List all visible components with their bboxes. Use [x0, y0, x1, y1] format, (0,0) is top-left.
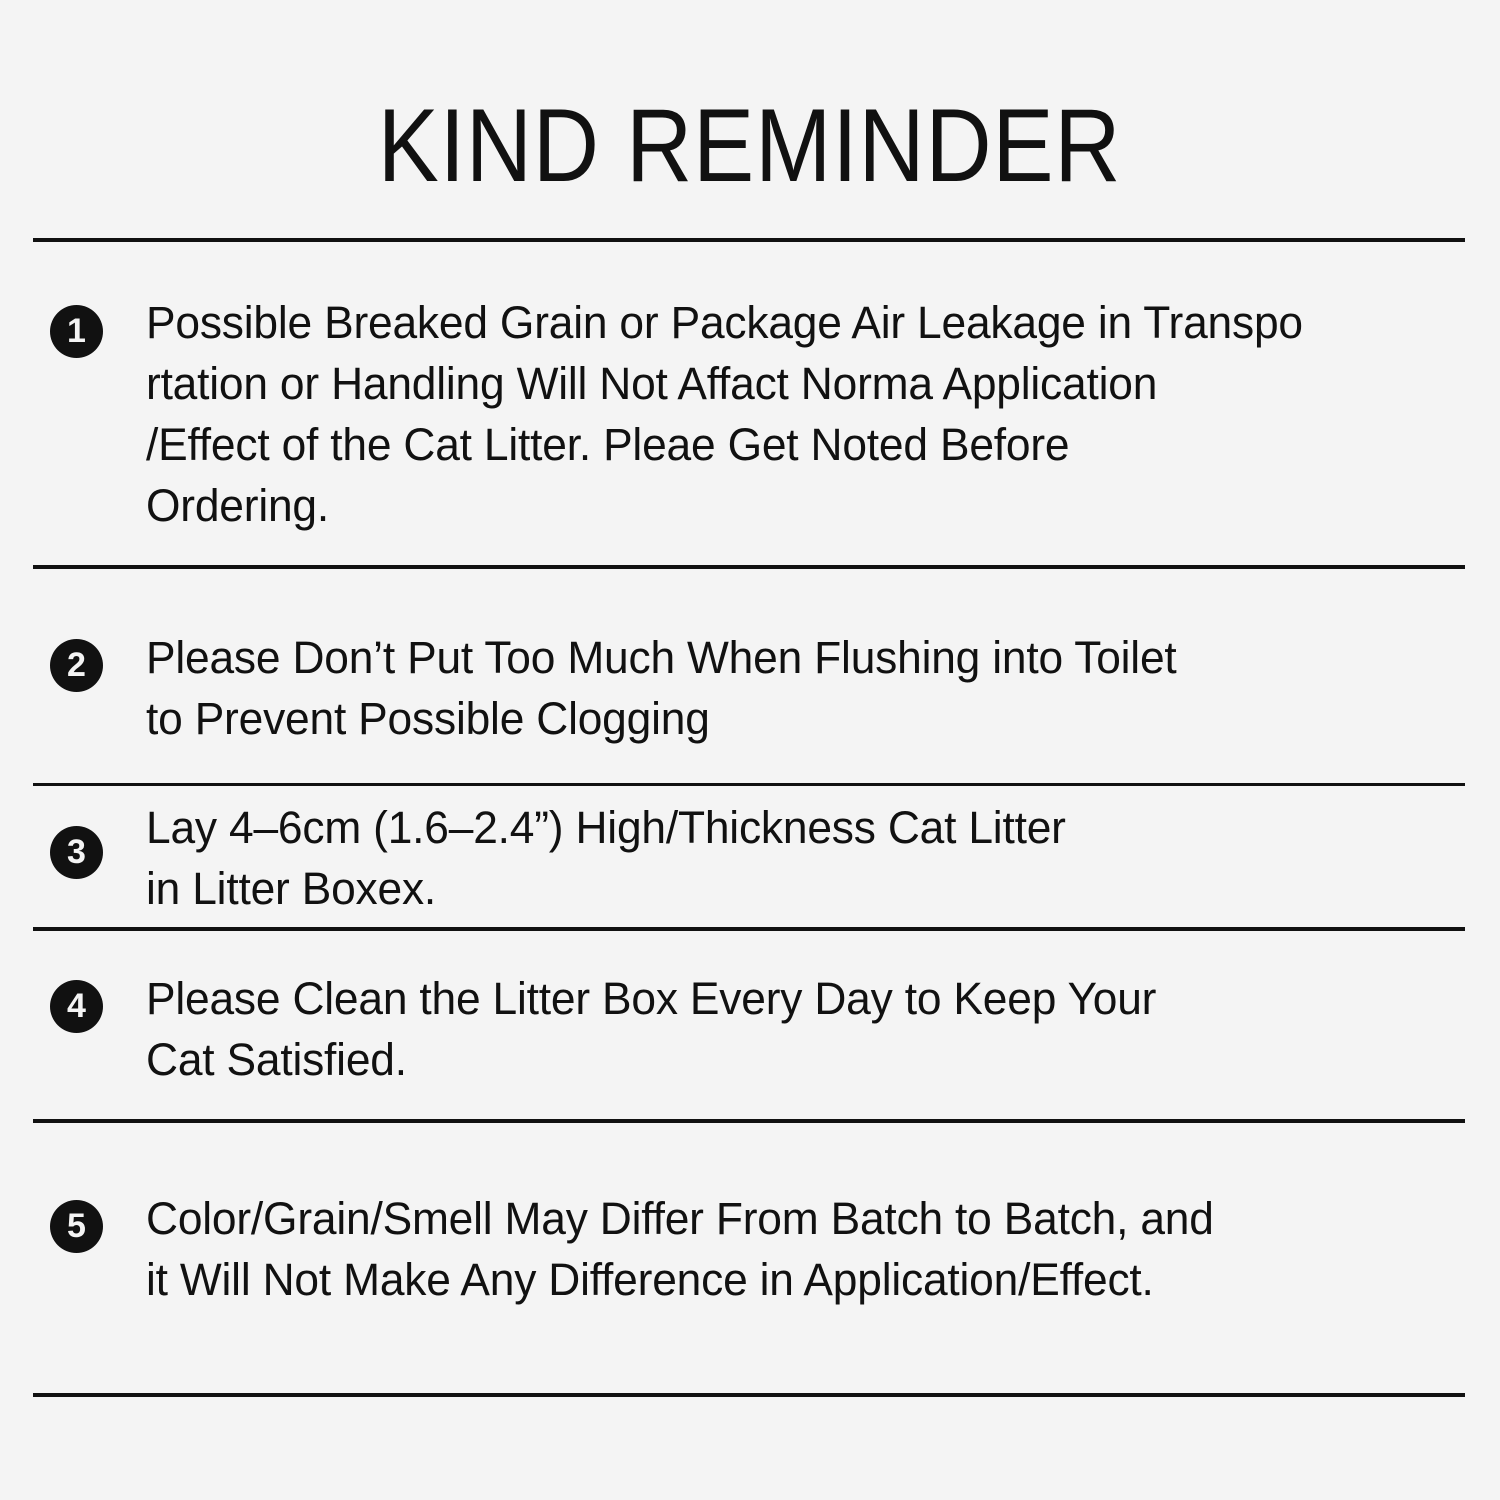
reminder-text-5: Color/Grain/Smell May Differ From Batch …: [146, 1188, 1445, 1310]
reminder-item-5: 5 Color/Grain/Smell May Differ From Batc…: [33, 1188, 1465, 1310]
reminder-text-3: Lay 4–6cm (1.6–2.4”) High/Thickness Cat …: [146, 797, 1445, 919]
divider-bottom: [33, 1393, 1465, 1397]
divider-after-item-1: [33, 565, 1465, 569]
number-badge-5: 5: [50, 1200, 103, 1253]
number-badge-3: 3: [50, 826, 103, 879]
number-badge-4: 4: [50, 980, 103, 1033]
reminder-text-4: Please Clean the Litter Box Every Day to…: [146, 968, 1445, 1090]
reminder-item-4: 4 Please Clean the Litter Box Every Day …: [33, 968, 1465, 1090]
divider-after-item-4: [33, 1119, 1465, 1123]
divider-after-item-3: [33, 927, 1465, 931]
number-badge-1: 1: [50, 305, 103, 358]
divider-top: [33, 238, 1465, 242]
reminder-item-1: 1 Possible Breaked Grain or Package Air …: [33, 292, 1465, 536]
reminder-text-1: Possible Breaked Grain or Package Air Le…: [146, 292, 1445, 536]
divider-after-item-2: [33, 783, 1465, 786]
reminder-text-2: Please Don’t Put Too Much When Flushing …: [146, 627, 1445, 749]
kind-reminder-poster: KIND REMINDER 1 Possible Breaked Grain o…: [0, 0, 1500, 1500]
reminder-item-2: 2 Please Don’t Put Too Much When Flushin…: [33, 627, 1465, 749]
number-badge-2: 2: [50, 639, 103, 692]
page-title-container: KIND REMINDER: [0, 92, 1500, 201]
reminder-item-3: 3 Lay 4–6cm (1.6–2.4”) High/Thickness Ca…: [33, 797, 1465, 919]
page-title: KIND REMINDER: [378, 92, 1122, 201]
